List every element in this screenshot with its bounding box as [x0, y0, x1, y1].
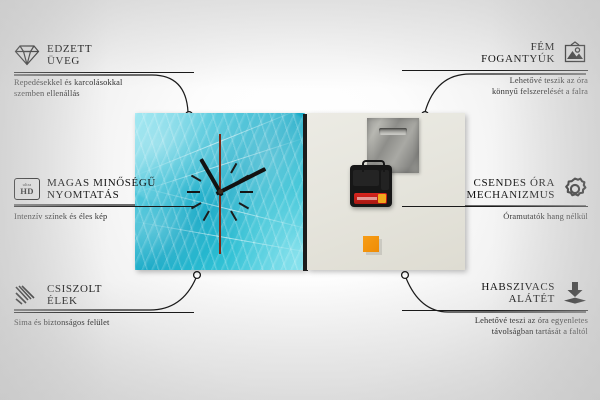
- feature-description: Intenzív színek és éles kép: [14, 211, 194, 222]
- ultra-hd-icon: ultra HD: [14, 176, 40, 202]
- title-line-2: NYOMTATÁS: [47, 189, 119, 201]
- mechanism-slot: [381, 170, 389, 190]
- title-line-2: FOGANTYÚK: [481, 53, 555, 65]
- clock-center-cap: [218, 189, 223, 194]
- title-line-1: HABSZIVACS: [481, 281, 555, 293]
- divider: [402, 70, 588, 71]
- title-line-2: ÉLEK: [47, 295, 78, 307]
- divider: [402, 310, 588, 311]
- title-line-2: ÜVEG: [47, 55, 80, 67]
- desc-line-2: könnyű felszerelését a falra: [492, 87, 588, 96]
- mechanism-panel: [353, 170, 379, 186]
- feature-description: Lehetővé teszik az óra könnyű felszerelé…: [402, 75, 588, 97]
- feature-title: EDZETT ÜVEG: [47, 43, 92, 68]
- infographic-canvas: EDZETT ÜVEG Repedésekkel és karcolásokka…: [0, 0, 600, 400]
- feature-high-quality-print[interactable]: ultra HD MAGAS MINŐSÉGŰ NYOMTATÁS Intenz…: [14, 176, 194, 222]
- feature-title: MAGAS MINŐSÉGŰ NYOMTATÁS: [47, 177, 156, 202]
- mechanism-handle: [362, 160, 385, 172]
- title-line-1: CSISZOLT: [47, 283, 102, 295]
- diamond-icon: [14, 42, 40, 68]
- desc-line-1: Intenzív színek és éles kép: [14, 212, 107, 221]
- feature-quiet-mechanism[interactable]: CSENDES ÓRA MECHANIZMUS Óramutatók hang …: [402, 176, 588, 222]
- title-line-2: ALÁTÉT: [509, 293, 555, 305]
- desc-line-1: Sima és biztonságos felület: [14, 318, 109, 327]
- feature-foam-pad[interactable]: HABSZIVACS ALÁTÉT Lehetővé teszi az óra …: [402, 280, 588, 337]
- feature-polished-edges[interactable]: CSISZOLT ÉLEK Sima és biztonságos felüle…: [14, 282, 194, 328]
- title-line-1: FÉM: [531, 41, 555, 53]
- feature-description: Óramutatók hang nélkül: [402, 211, 588, 222]
- feature-description: Sima és biztonságos felület: [14, 317, 194, 328]
- feature-description: Lehetővé teszi az óra egyenletes távolsá…: [402, 315, 588, 337]
- desc-line-2: szemben ellenállás: [14, 89, 80, 98]
- battery: [354, 193, 387, 204]
- feature-title: FÉM FOGANTYÚK: [481, 41, 555, 66]
- divider: [402, 206, 588, 207]
- divider: [14, 206, 194, 207]
- foam-pad: [363, 236, 379, 252]
- desc-line-1: Óramutatók hang nélkül: [503, 212, 588, 221]
- picture-hanger-icon: [562, 40, 588, 66]
- desc-line-1: Lehetővé teszik az óra: [510, 76, 588, 85]
- desc-line-2: távolságban tartását a faltól: [492, 327, 588, 336]
- feature-tempered-glass[interactable]: EDZETT ÜVEG Repedésekkel és karcolásokka…: [14, 42, 194, 99]
- foam-pad-arrow-icon: [562, 280, 588, 306]
- clock-second-hand-upper: [219, 134, 221, 192]
- feature-title: HABSZIVACS ALÁTÉT: [481, 281, 555, 306]
- hanger-slot: [379, 128, 407, 135]
- clock-second-hand: [219, 192, 221, 254]
- desc-line-1: Lehetővé teszi az óra egyenletes: [475, 316, 588, 325]
- divider: [14, 312, 194, 313]
- hd-label: HD: [20, 187, 34, 196]
- title-line-2: MECHANIZMUS: [467, 189, 556, 201]
- title-line-1: MAGAS MINŐSÉGŰ: [47, 177, 156, 189]
- feature-title: CSENDES ÓRA MECHANIZMUS: [467, 177, 556, 202]
- feature-metal-handles[interactable]: FÉM FOGANTYÚK Lehetővé teszik az óra kön…: [402, 40, 588, 97]
- feature-title: CSISZOLT ÉLEK: [47, 283, 102, 308]
- title-line-1: CSENDES ÓRA: [474, 177, 555, 189]
- title-line-1: EDZETT: [47, 43, 92, 55]
- gear-icon: [562, 176, 588, 202]
- desc-line-1: Repedésekkel és karcolásokkal: [14, 78, 123, 87]
- polished-edges-icon: [14, 282, 40, 308]
- divider: [14, 72, 194, 73]
- feature-description: Repedésekkel és karcolásokkal szemben el…: [14, 77, 194, 99]
